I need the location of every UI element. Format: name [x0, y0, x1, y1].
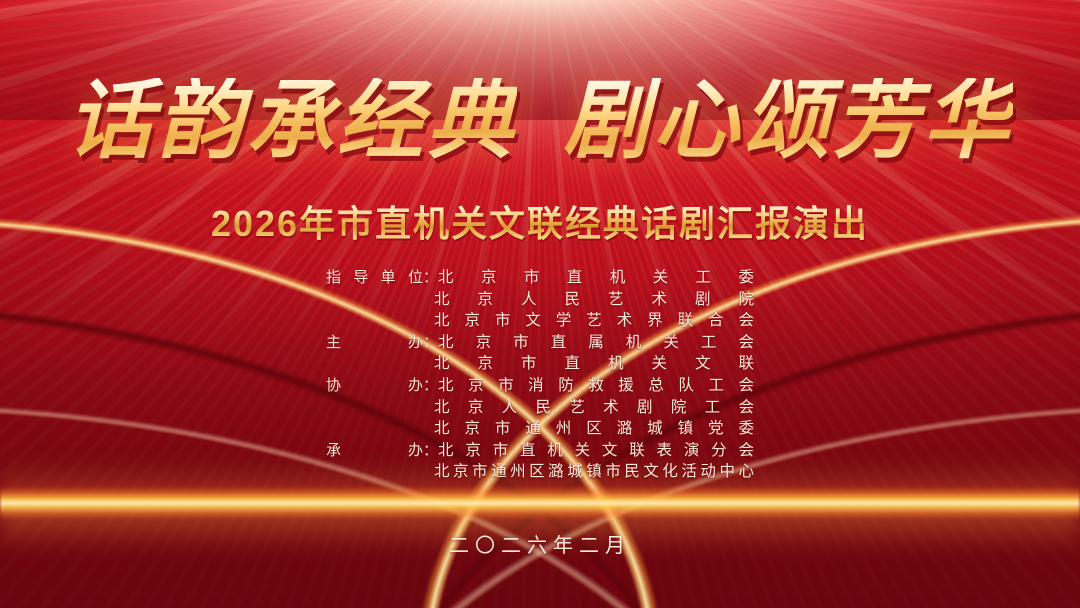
subtitle: 2026年市直机关文联经典话剧汇报演出 — [0, 203, 1080, 244]
credit-row: 北京人民艺术剧院 — [326, 287, 754, 309]
credit-colon: ： — [423, 331, 438, 352]
credit-row: 北京市通州区潞城镇党委 — [326, 416, 754, 438]
main-title-part-1: 话韵承经典 — [67, 78, 517, 164]
credit-value: 北京人民艺术剧院 — [434, 287, 754, 309]
event-poster: 话韵承经典 剧心颂芳华 2026年市直机关文联经典话剧汇报演出 指导单位 ： 北… — [0, 0, 1080, 608]
credit-row: 北京市文学艺术界联合会 — [326, 308, 754, 330]
credit-label: 主办 — [326, 331, 423, 352]
event-date: 二〇二六年二月 — [0, 529, 1080, 558]
credit-row: 北京人民艺术剧院工会 — [326, 395, 754, 417]
main-title-part-2: 剧心颂芳华 — [563, 78, 1013, 164]
main-title: 话韵承经典 剧心颂芳华 — [0, 78, 1080, 164]
credit-value: 北京市文学艺术界联合会 — [434, 308, 754, 330]
credit-label: 指导单位 — [326, 266, 423, 287]
credit-value: 北京市通州区潞城镇党委 — [434, 416, 754, 438]
credit-value: 北京市消防救援总队工会 — [438, 373, 754, 395]
credit-row: 北京市直机关文联 — [326, 351, 754, 373]
poster-content: 话韵承经典 剧心颂芳华 2026年市直机关文联经典话剧汇报演出 指导单位 ： 北… — [0, 0, 1080, 608]
credit-value: 北京市直属机关工会 — [438, 330, 754, 352]
credit-colon: ： — [423, 374, 438, 395]
credit-value: 北京市直机关文联表演分会 — [438, 438, 754, 460]
credit-colon: ： — [423, 439, 438, 460]
credit-value: 北京人民艺术剧院工会 — [434, 395, 754, 417]
credit-value: 北京市直机关工委 — [438, 265, 754, 287]
credit-row: 承办 ： 北京市直机关文联表演分会 — [326, 438, 754, 460]
credit-value: 北京市通州区潞城镇市民文化活动中心 — [434, 459, 754, 481]
credit-label: 承办 — [326, 439, 423, 460]
credit-row: 主办 ： 北京市直属机关工会 — [326, 330, 754, 352]
credit-value: 北京市直机关文联 — [434, 351, 754, 373]
credits-block: 指导单位 ： 北京市直机关工委 北京人民艺术剧院 北京市文学艺术界联合会 主办 … — [0, 265, 1080, 481]
credit-colon: ： — [423, 266, 438, 287]
credit-row: 协办 ： 北京市消防救援总队工会 — [326, 373, 754, 395]
credit-label: 协办 — [326, 374, 423, 395]
credit-row: 北京市通州区潞城镇市民文化活动中心 — [326, 459, 754, 481]
credit-row: 指导单位 ： 北京市直机关工委 — [326, 265, 754, 287]
